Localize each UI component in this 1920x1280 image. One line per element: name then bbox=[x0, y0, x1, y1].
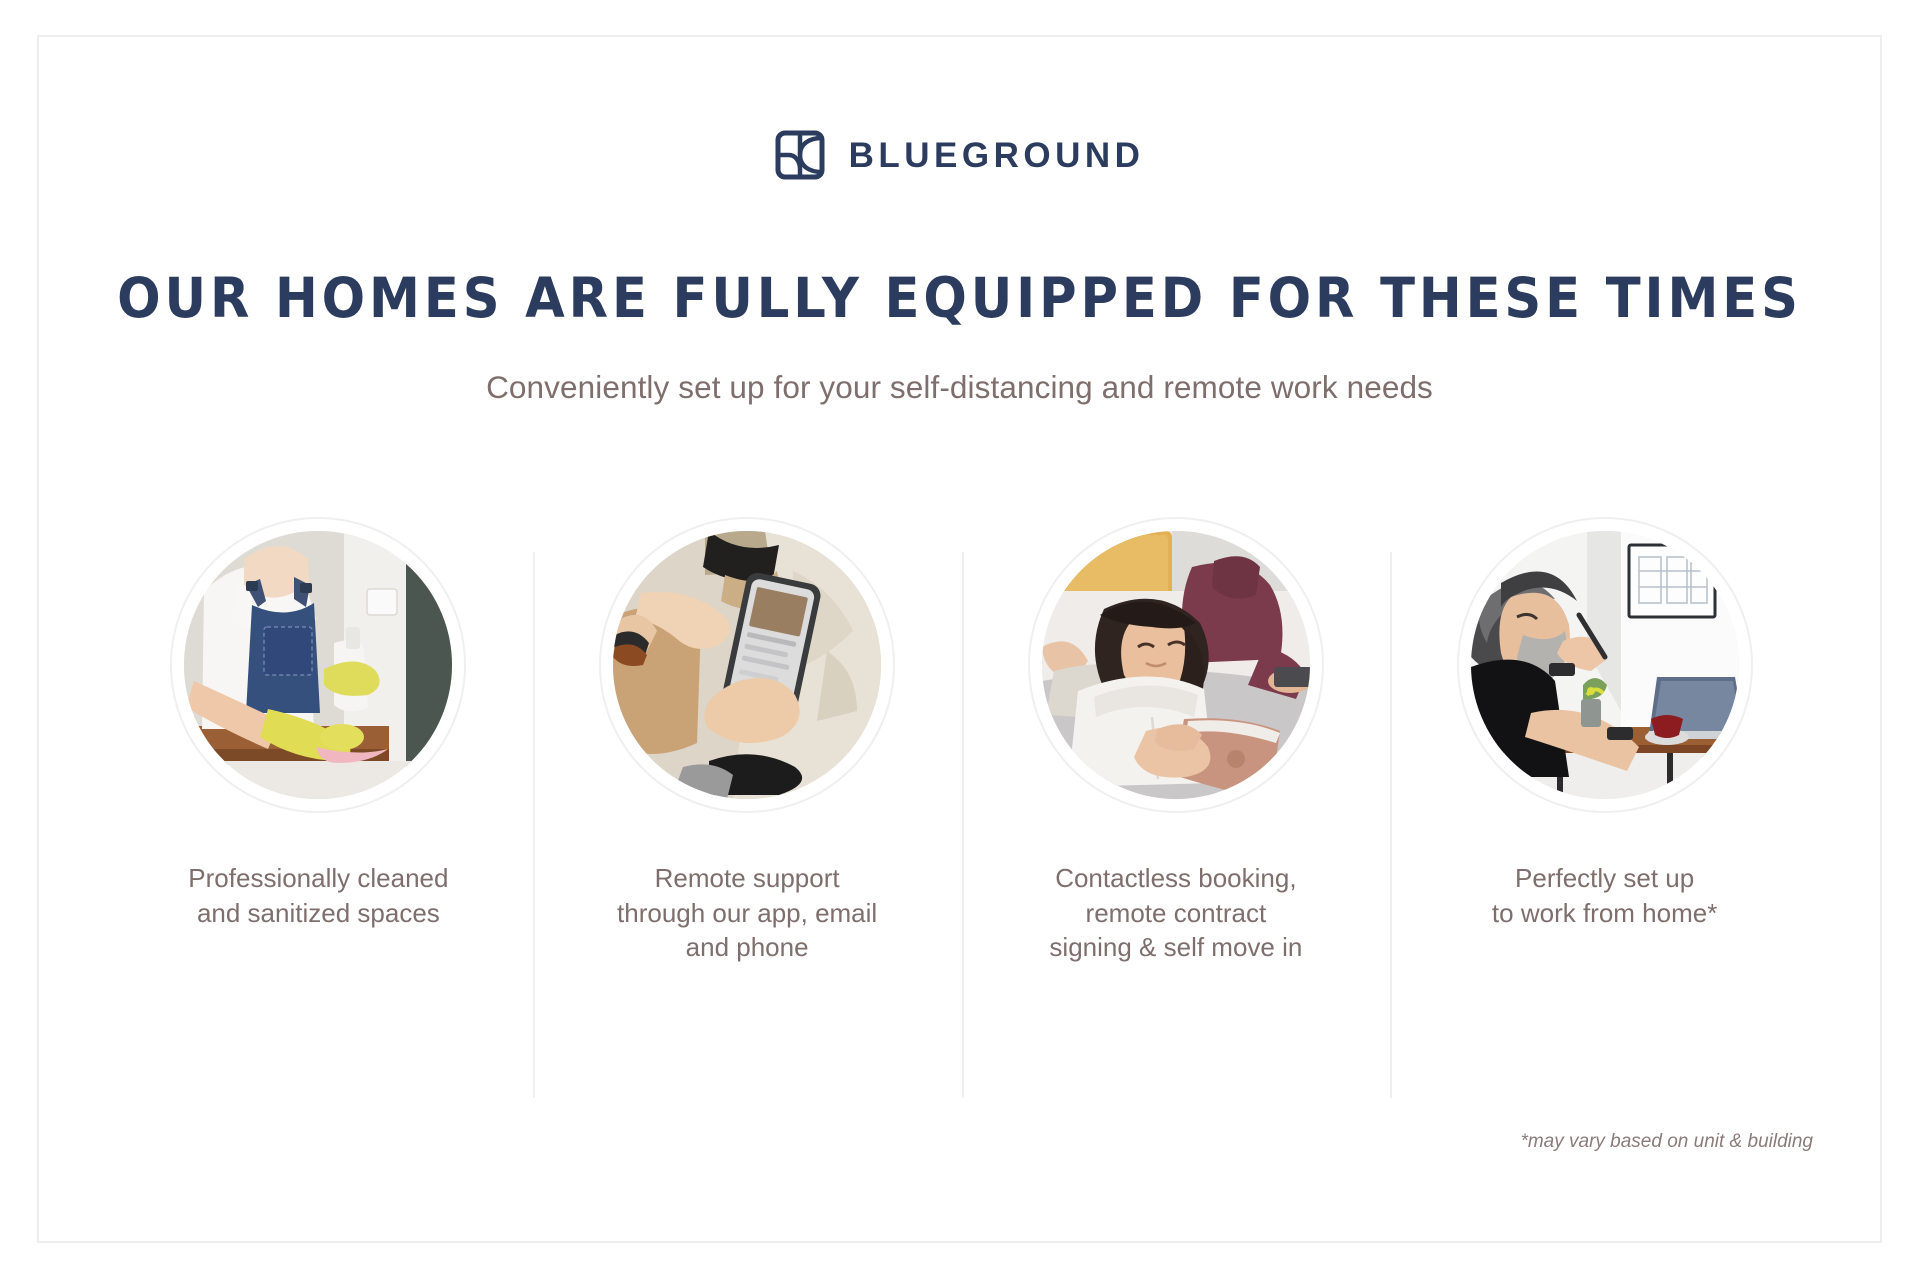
feature-column-contactless-booking: Contactless booking,remote contractsigni… bbox=[962, 517, 1391, 965]
footnote: *may vary based on unit & building bbox=[1520, 1131, 1813, 1153]
brand-logo: BLUEGROUND bbox=[39, 130, 1880, 180]
feature-caption: Contactless booking,remote contractsigni… bbox=[1049, 861, 1302, 965]
feature-caption: Professionally cleanedand sanitized spac… bbox=[188, 861, 448, 930]
photo-ring bbox=[170, 517, 466, 813]
page-title: OUR HOMES ARE FULLY EQUIPPED FOR THESE T… bbox=[103, 269, 1815, 328]
photo-man-working-on-laptop-at-desk bbox=[1471, 531, 1739, 799]
photo-woman-on-bed-with-tablet bbox=[1042, 531, 1310, 799]
feature-column-cleaning: Professionally cleanedand sanitized spac… bbox=[104, 517, 533, 965]
page-subtitle: Conveniently set up for your self-distan… bbox=[39, 367, 1880, 408]
photo-ring bbox=[599, 517, 895, 813]
feature-column-work-from-home: Perfectly set upto work from home* bbox=[1390, 517, 1819, 965]
blueground-square-logo-icon bbox=[775, 130, 825, 180]
feature-caption: Perfectly set upto work from home* bbox=[1492, 861, 1717, 930]
feature-column-remote-support: Remote supportthrough our app, emailand … bbox=[533, 517, 962, 965]
feature-columns: Professionally cleanedand sanitized spac… bbox=[104, 517, 1819, 965]
feature-caption: Remote supportthrough our app, emailand … bbox=[617, 861, 877, 965]
brand-wordmark: BLUEGROUND bbox=[849, 138, 1145, 173]
photo-hands-holding-smartphone-app bbox=[613, 531, 881, 799]
photo-ring bbox=[1028, 517, 1324, 813]
poster-card: BLUEGROUND OUR HOMES ARE FULLY EQUIPPED … bbox=[37, 35, 1882, 1243]
photo-ring bbox=[1457, 517, 1753, 813]
photo-professional-cleaner-with-yellow-gloves bbox=[184, 531, 452, 799]
